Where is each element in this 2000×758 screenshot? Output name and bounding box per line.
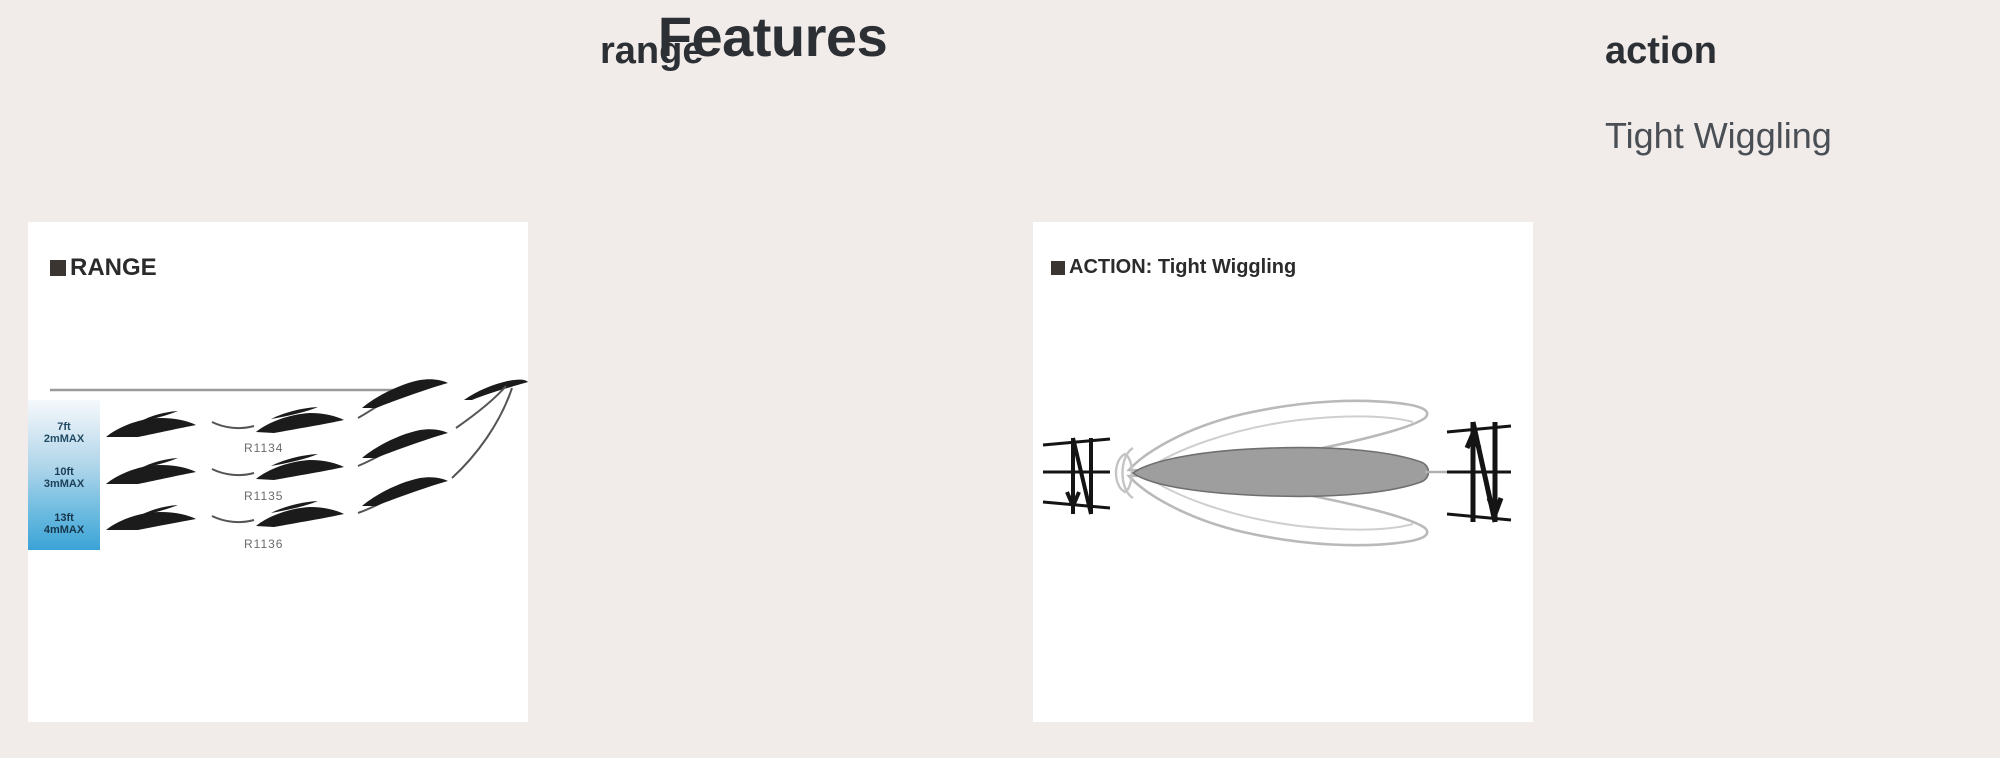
depth-label-2-feet: 10ft — [54, 466, 74, 478]
action-caption-subtitle: Tight Wiggling — [1605, 116, 1832, 156]
action-caption-title: action — [1605, 32, 1832, 70]
dive-path-segment — [212, 469, 254, 475]
depth-label-3-feet: 13ft — [54, 512, 74, 524]
feature-action: ACTION: Tight Wiggling — [1033, 222, 1533, 722]
right-amplitude-marker — [1447, 422, 1511, 522]
page-title: Features — [0, 8, 1545, 67]
dive-range-diagram: 7ft 2mMAX 10ft 3mMAX 13ft 4mMAX — [28, 222, 528, 722]
range-caption-title: range — [600, 32, 703, 70]
dive-path-segment — [212, 422, 254, 428]
action-caption: action Tight Wiggling — [1605, 32, 1832, 156]
lure-silhouette — [362, 379, 448, 408]
depth-label-3-meters: 4mMAX — [44, 524, 85, 536]
range-caption: range — [600, 32, 703, 70]
model-label-r1135: R1135 — [244, 489, 283, 503]
depth-label-1-feet: 7ft — [57, 421, 71, 433]
lure-silhouette — [106, 512, 196, 530]
lure-silhouette — [256, 413, 344, 433]
action-card: ACTION: Tight Wiggling — [1033, 222, 1533, 722]
model-label-r1136: R1136 — [244, 537, 283, 551]
lure-body — [1133, 448, 1429, 497]
lure-silhouette — [106, 418, 196, 437]
depth-label-1-meters: 2mMAX — [44, 433, 85, 445]
left-amplitude-marker — [1043, 438, 1110, 514]
lure-silhouette — [256, 507, 344, 527]
lure-silhouette — [256, 460, 344, 480]
lure-silhouette — [362, 429, 448, 458]
depth-label-2-meters: 3mMAX — [44, 478, 85, 490]
lure-silhouette — [362, 477, 448, 506]
dive-track-row-2: R1135 — [106, 386, 506, 503]
dive-path-segment — [212, 516, 254, 522]
dive-ascent-curve — [452, 388, 512, 478]
model-label-r1134: R1134 — [244, 441, 283, 455]
range-card: RANGE 7ft 2mMAX 10f — [28, 222, 528, 722]
wiggle-action-diagram — [1033, 222, 1533, 722]
lure-silhouette — [106, 465, 196, 484]
feature-range: RANGE 7ft 2mMAX 10f — [28, 222, 528, 722]
